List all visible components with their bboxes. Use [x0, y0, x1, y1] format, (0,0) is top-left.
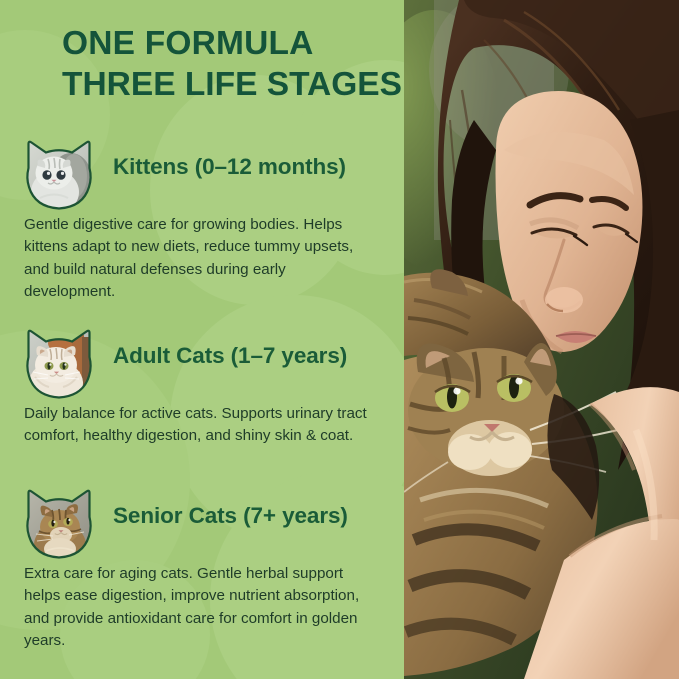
- page-title-line-2: THREE LIFE STAGES: [62, 65, 402, 106]
- life-stage-title: Kittens (0–12 months): [113, 154, 346, 180]
- life-stage-section: Kittens (0–12 months) Gentle digestive c…: [0, 138, 404, 212]
- adult-cat-head-icon: [24, 327, 94, 400]
- life-stage-title: Senior Cats (7+ years): [113, 503, 348, 529]
- left-text-panel: ONE FORMULA THREE LIFE STAGES: [0, 0, 404, 679]
- page-title: ONE FORMULA THREE LIFE STAGES: [62, 24, 402, 106]
- woman-hugging-tabby-cat-photo: [404, 0, 679, 679]
- kitten-cat-head-icon: [24, 138, 94, 211]
- page-title-line-1: ONE FORMULA: [62, 25, 314, 62]
- life-stage-description: Daily balance for active cats. Supports …: [24, 403, 376, 448]
- life-stage-description: Gentle digestive care for growing bodies…: [24, 214, 376, 303]
- life-stage-description: Extra care for aging cats. Gentle herbal…: [24, 563, 376, 652]
- life-stage-header: Kittens (0–12 months): [0, 138, 404, 212]
- life-stages-infographic: ONE FORMULA THREE LIFE STAGES: [0, 0, 679, 679]
- life-stage-header: Adult Cats (1–7 years): [0, 327, 404, 401]
- life-stage-section: Senior Cats (7+ years) Extra care for ag…: [0, 487, 404, 561]
- life-stage-section: Adult Cats (1–7 years) Daily balance for…: [0, 327, 404, 401]
- life-stage-title: Adult Cats (1–7 years): [113, 343, 347, 369]
- life-stage-header: Senior Cats (7+ years): [0, 487, 404, 561]
- senior-cat-head-icon: [24, 487, 94, 560]
